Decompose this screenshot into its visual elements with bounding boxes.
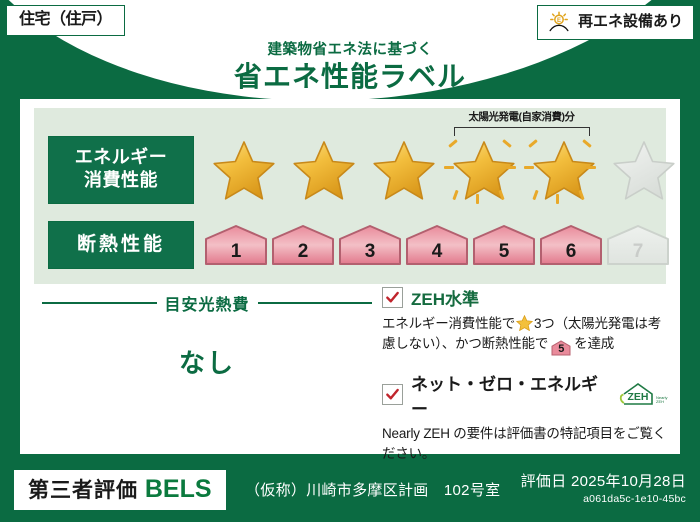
dwelling-type-label: 住宅（住戸） — [19, 11, 112, 28]
star-icon — [370, 140, 438, 202]
star-icon — [610, 140, 678, 202]
net-zero-energy-checkbox[interactable] — [382, 384, 403, 405]
evaluation-id: a061da5c-1e10-45bc — [521, 493, 686, 505]
energy-performance-label: 住宅（住戸） E 再エネ設備あり 建築物省エネ法に基づく 省エネ性能ラベル 太陽… — [0, 0, 700, 522]
net-zero-energy-description: Nearly ZEH の要件は評価書の特記項目をご覧ください。 — [382, 424, 668, 464]
evaluation-date: 評価日 2025年10月28日 — [521, 470, 686, 491]
zeh-standard-title: ZEH水準 — [411, 285, 479, 310]
performance-panel: 太陽光発電(自家消費)分 エネルギー 消費性能 断熱性能 1234567 — [34, 108, 666, 284]
label-title-main: 省エネ性能ラベル — [0, 61, 700, 93]
insulation-grade-value: 2 — [298, 241, 309, 263]
zeh-standard-description: エネルギー消費性能で3つ（太陽光発電は考慮しない）、かつ断熱性能で5を達成 — [382, 314, 668, 356]
energy-star-5 — [524, 136, 604, 204]
zeh-badge-sub-text-2: ZEH — [656, 399, 664, 404]
property-name: （仮称）川崎市多摩区計画 102号室 — [245, 479, 500, 500]
insulation-grade-3: 3 — [338, 224, 402, 266]
solar-ray-4-3 — [506, 166, 516, 169]
energy-performance-label: エネルギー 消費性能 — [48, 136, 194, 204]
insulation-grade-5: 5 — [472, 224, 536, 266]
zeh-standard-heading: ZEH水準 — [382, 285, 668, 310]
insulation-grade-6: 6 — [539, 224, 603, 266]
check-icon — [385, 387, 400, 402]
insulation-grade-value: 5 — [499, 241, 510, 263]
net-zero-energy-heading: ネット・ゼロ・エネルギー ZEH Nearly ZEH — [382, 370, 668, 420]
zeh-block: ZEH水準 エネルギー消費性能で3つ（太陽光発電は考慮しない）、かつ断熱性能で5… — [382, 285, 668, 464]
utility-cost-title: 目安光熱費 — [165, 291, 250, 315]
insulation-grade-value: 3 — [365, 241, 376, 263]
utility-cost-value: なし — [42, 343, 372, 380]
label-footer: 第三者評価 BELS （仮称）川崎市多摩区計画 102号室 評価日 2025年1… — [0, 462, 700, 522]
label-card: 太陽光発電(自家消費)分 エネルギー 消費性能 断熱性能 1234567 目安光… — [20, 99, 680, 454]
solar-ray-5-3 — [586, 166, 596, 169]
solar-ray-4-6 — [476, 194, 479, 204]
solar-ray-5-2 — [524, 166, 534, 169]
label-title-sub: 建築物省エネ法に基づく — [0, 42, 700, 59]
rule-left — [42, 302, 157, 304]
bels-certification-badge: 第三者評価 BELS — [14, 470, 226, 510]
star-icon — [450, 140, 518, 202]
insulation-grade-value: 4 — [432, 241, 443, 263]
energy-star-2 — [284, 136, 364, 204]
dwelling-type-badge: 住宅（住戸） — [6, 5, 125, 36]
solar-annotation-label: 太陽光発電(自家消費)分 — [449, 112, 594, 123]
energy-star-4 — [444, 136, 524, 204]
svg-text:E: E — [557, 18, 561, 24]
rule-right — [258, 302, 373, 304]
insulation-grade-1: 1 — [204, 224, 268, 266]
insulation-grade-2: 2 — [271, 224, 335, 266]
bels-label: BELS — [145, 475, 212, 503]
insulation-grade-4: 4 — [405, 224, 469, 266]
utility-cost-block: 目安光熱費 なし — [42, 291, 372, 380]
star-icon — [210, 140, 278, 202]
net-zero-energy-title: ネット・ゼロ・エネルギー — [411, 370, 606, 420]
renewable-equipment-badge: E 再エネ設備あり — [537, 5, 694, 40]
inline-grade-badge-value: 5 — [558, 343, 564, 355]
utility-cost-heading: 目安光熱費 — [42, 291, 372, 315]
insulation-performance-row: 断熱性能 1234567 — [34, 221, 673, 269]
zeh-badge-main-text: ZEH — [628, 391, 649, 403]
energy-star-6 — [604, 136, 684, 204]
energy-star-1 — [204, 136, 284, 204]
star-icon — [290, 140, 358, 202]
solar-ray-4-2 — [444, 166, 454, 169]
sun-energy-icon: E — [546, 10, 572, 34]
zeh-standard-checkbox[interactable] — [382, 287, 403, 308]
zeh-standard-description-a: エネルギー消費性能で — [382, 316, 515, 331]
energy-star-rating — [204, 136, 684, 204]
insulation-grade-value: 6 — [566, 241, 577, 263]
insulation-grade-7: 7 — [606, 224, 670, 266]
solar-annotation-bracket — [454, 127, 590, 136]
evaluation-info: 評価日 2025年10月28日 a061da5c-1e10-45bc — [521, 470, 686, 505]
zeh-standard-description-c: を達成 — [574, 336, 614, 351]
energy-performance-row: エネルギー 消費性能 — [34, 136, 684, 204]
energy-performance-label-line2: 消費性能 — [49, 169, 193, 192]
insulation-grade-value: 1 — [231, 241, 242, 263]
insulation-grade-value: 7 — [633, 241, 644, 263]
insulation-performance-label: 断熱性能 — [48, 221, 194, 269]
check-icon — [385, 290, 400, 305]
inline-star-icon — [516, 315, 533, 331]
third-party-label: 第三者評価 — [28, 479, 138, 502]
label-title: 建築物省エネ法に基づく 省エネ性能ラベル — [0, 42, 700, 94]
insulation-grade-scale: 1234567 — [204, 224, 673, 266]
solar-ray-5-6 — [556, 194, 559, 204]
energy-performance-label-line1: エネルギー — [49, 146, 193, 169]
renewable-equipment-label: 再エネ設備あり — [578, 14, 683, 31]
energy-star-3 — [364, 136, 444, 204]
star-icon — [530, 140, 598, 202]
zeh-house-badge-icon: ZEH Nearly ZEH — [618, 382, 668, 408]
inline-grade-badge: 5 — [551, 340, 571, 356]
